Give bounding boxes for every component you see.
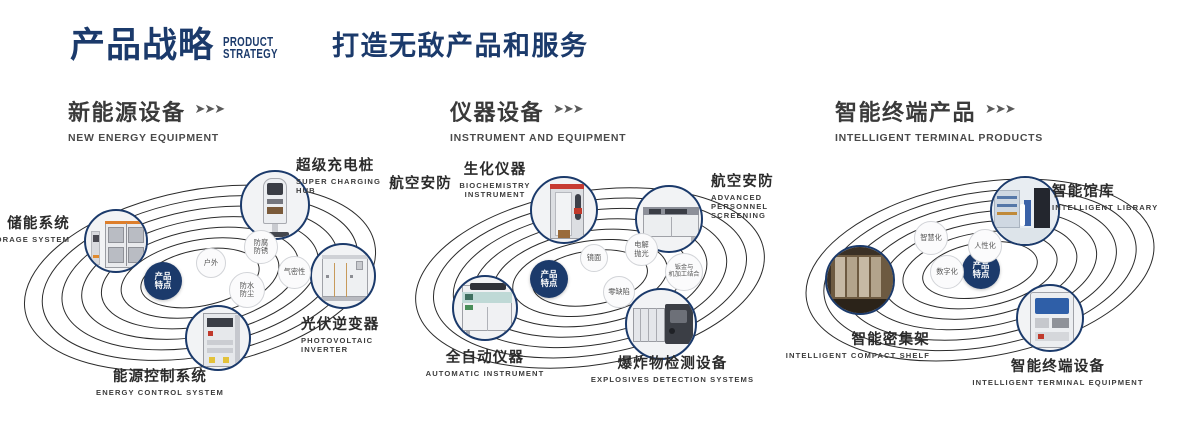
feature-bubble-airtight[interactable]: 气密性 [278, 256, 311, 289]
panel-instrument: 产品 特点 镜面 电解 抛光 钣金与 机加工结合 零缺陷 航空安防 生化仪器 B… [390, 150, 790, 405]
caption-en: PHOTOVOLTAIC INVERTER [301, 336, 400, 354]
caption-cn: 智能密集架 [760, 328, 930, 349]
product-strategy-infographic: 产品战略 PRODUCT STRATEGY 打造无敌产品和服务 新能源设备➤➤➤… [0, 0, 1200, 422]
caption-cn: 光伏逆变器 [301, 313, 400, 334]
node-explosives-detection[interactable] [625, 288, 697, 360]
product-photo-compact-shelf [827, 247, 893, 313]
page-header: 产品战略 PRODUCT STRATEGY [70, 28, 293, 63]
core-bubble-line2: 特点 [155, 281, 172, 290]
core-bubble-product-features[interactable]: 产品 特点 [144, 262, 182, 300]
section-title-cn: 新能源设备 [68, 95, 186, 127]
node-energy-control-system[interactable] [185, 305, 251, 371]
section-heading-instrument: 仪器设备➤➤➤ INSTRUMENT AND EQUIPMENT [450, 95, 626, 144]
caption-biochemistry-instrument: 生化仪器 BIOCHEMISTRY INSTRUMENT [430, 158, 560, 199]
caption-cn: 智能馆库 [1052, 180, 1158, 201]
feature-bubble-humanized[interactable]: 人性化 [968, 229, 1002, 263]
page-tagline: 打造无敌产品和服务 [332, 33, 589, 60]
feature-bubble-mirror[interactable]: 镜面 [580, 244, 608, 272]
caption-cn: 爆炸物检测设备 [585, 352, 760, 373]
caption-intelligent-compact-shelf: 智能密集架 INTELLIGENT COMPACT SHELF [760, 328, 930, 360]
section-heading-new-energy: 新能源设备➤➤➤ NEW ENERGY EQUIPMENT [68, 95, 224, 144]
feature-bubble-sheetmetal-machining[interactable]: 钣金与 机加工结合 [665, 253, 703, 291]
caption-energy-control-system: 能源控制系统 ENERGY CONTROL SYSTEM [70, 365, 250, 397]
caption-cn: 储能系统 [0, 212, 70, 233]
node-intelligent-library[interactable] [990, 176, 1060, 246]
page-title-english-line2: STRATEGY [223, 48, 278, 61]
core-bubble-product-features[interactable]: 产品 特点 [530, 260, 568, 298]
product-photo-control-system [187, 307, 249, 369]
core-bubble-line2: 特点 [541, 279, 558, 288]
section-title-en: INSTRUMENT AND EQUIPMENT [450, 132, 626, 144]
caption-en: AUTOMATIC INSTRUMENT [415, 369, 555, 378]
node-intelligent-compact-shelf[interactable] [825, 245, 895, 315]
caption-intelligent-library: 智能馆库 INTELLIGENT LIBRARY [1052, 180, 1158, 212]
feature-bubble-electropolishing[interactable]: 电解 抛光 [625, 233, 658, 266]
feature-bubble-anticorrosion[interactable]: 防腐 防锈 [244, 230, 278, 264]
caption-en: ENERGY CONTROL SYSTEM [70, 388, 250, 397]
node-automatic-instrument[interactable] [452, 275, 518, 341]
caption-en: INTELLIGENT LIBRARY [1052, 203, 1158, 212]
product-photo-explosives-detection [627, 290, 695, 358]
section-title-cn: 仪器设备 [450, 95, 544, 127]
panel-intelligent-terminal: 产品 特点 智慧化 人性化 数字化 智能馆库 INTELLIGENT LIBRA… [790, 150, 1190, 405]
page-title-english: PRODUCT STRATEGY [223, 36, 278, 62]
page-title: 产品战略 [70, 28, 214, 63]
node-energy-storage-system[interactable] [84, 209, 148, 273]
caption-photovoltaic-inverter: 光伏逆变器 PHOTOVOLTAIC INVERTER [301, 313, 400, 354]
caption-cn: 能源控制系统 [70, 365, 250, 386]
feature-bubble-zero-defect[interactable]: 零缺陷 [603, 276, 635, 308]
section-title-en: INTELLIGENT TERMINAL PRODUCTS [835, 132, 1043, 144]
caption-en: INTELLIGENT TERMINAL EQUIPMENT [968, 378, 1148, 387]
page-title-english-line1: PRODUCT [223, 36, 278, 49]
chevron-right-icon: ➤➤➤ [553, 101, 583, 117]
product-photo-automatic-instrument [454, 277, 516, 339]
caption-cn: 全自动仪器 [415, 346, 555, 367]
caption-en: ENERGY STORAGE SYSTEM [0, 235, 70, 244]
section-title-cn: 智能终端产品 [835, 95, 976, 127]
chevron-right-icon: ➤➤➤ [195, 101, 225, 117]
section-title-en: NEW ENERGY EQUIPMENT [68, 132, 224, 144]
caption-cn: 生化仪器 [430, 158, 560, 179]
caption-explosives-detection: 爆炸物检测设备 EXPLOSIVES DETECTION SYSTEMS [585, 352, 760, 384]
product-photo-energy-storage [86, 211, 146, 271]
node-intelligent-terminal-equipment[interactable] [1016, 284, 1084, 352]
feature-bubble-waterproof[interactable]: 防水 防尘 [229, 272, 265, 308]
caption-intelligent-terminal-equipment: 智能终端设备 INTELLIGENT TERMINAL EQUIPMENT [968, 355, 1148, 387]
product-photo-terminal-equipment [1018, 286, 1082, 350]
caption-en: BIOCHEMISTRY INSTRUMENT [430, 181, 560, 199]
caption-en: INTELLIGENT COMPACT SHELF [760, 351, 930, 360]
product-photo-inverter [312, 245, 374, 307]
chevron-right-icon: ➤➤➤ [985, 101, 1015, 117]
core-bubble-line2: 特点 [973, 270, 990, 279]
caption-automatic-instrument: 全自动仪器 AUTOMATIC INSTRUMENT [415, 346, 555, 378]
section-heading-intelligent: 智能终端产品➤➤➤ INTELLIGENT TERMINAL PRODUCTS [835, 95, 1043, 144]
caption-cn: 智能终端设备 [968, 355, 1148, 376]
product-photo-library [992, 178, 1058, 244]
node-photovoltaic-inverter[interactable] [310, 243, 376, 309]
feature-bubble-digitalized[interactable]: 数字化 [930, 255, 964, 289]
feature-bubble-outdoor[interactable]: 户外 [196, 248, 226, 278]
caption-energy-storage-system: 储能系统 ENERGY STORAGE SYSTEM [0, 212, 70, 244]
caption-en: EXPLOSIVES DETECTION SYSTEMS [585, 375, 760, 384]
feature-bubble-smart[interactable]: 智慧化 [914, 221, 948, 255]
